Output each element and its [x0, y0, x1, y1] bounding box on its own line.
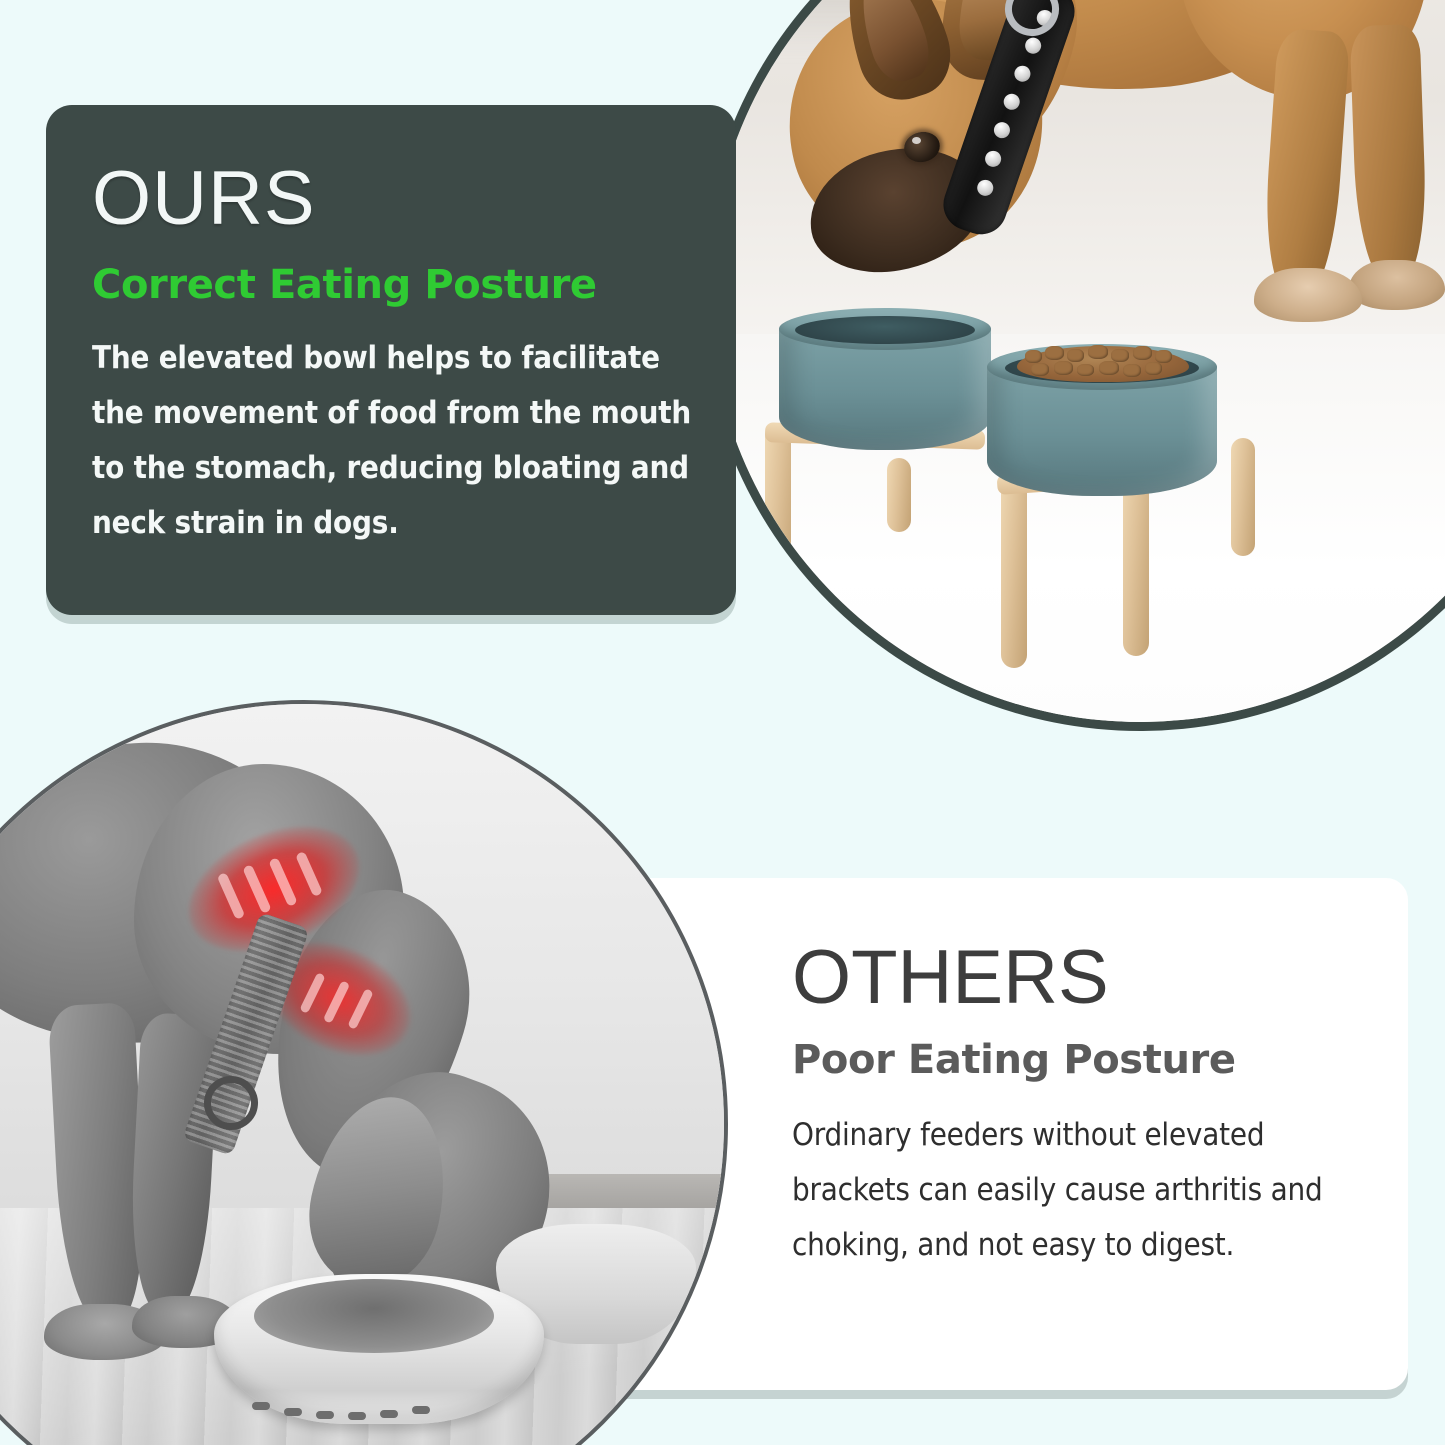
ours-subtitle: Correct Eating Posture — [92, 263, 702, 307]
dog-eye-glint — [912, 137, 921, 144]
infographic-stage: OURS Correct Eating Posture The elevated… — [0, 0, 1445, 1445]
stand-leg — [765, 424, 791, 620]
dog-back-paw — [1349, 260, 1445, 310]
stand-leg — [887, 458, 911, 532]
ours-panel: OURS Correct Eating Posture The elevated… — [46, 105, 736, 615]
ours-product-photo — [709, 0, 1445, 722]
stand-leg — [1001, 468, 1027, 668]
others-product-photo — [0, 700, 728, 1445]
others-subtitle: Poor Eating Posture — [792, 1038, 1392, 1082]
others-title: OTHERS — [792, 940, 1392, 1016]
others-body-text: Ordinary feeders without elevated bracke… — [792, 1108, 1382, 1273]
ours-body-text: The elevated bowl helps to facilitate th… — [92, 331, 702, 551]
ours-title: OURS — [92, 161, 702, 237]
gs-floor-bowl-well — [254, 1279, 494, 1353]
elevated-bowl-stand — [739, 308, 1299, 628]
stand-leg — [1231, 438, 1255, 556]
